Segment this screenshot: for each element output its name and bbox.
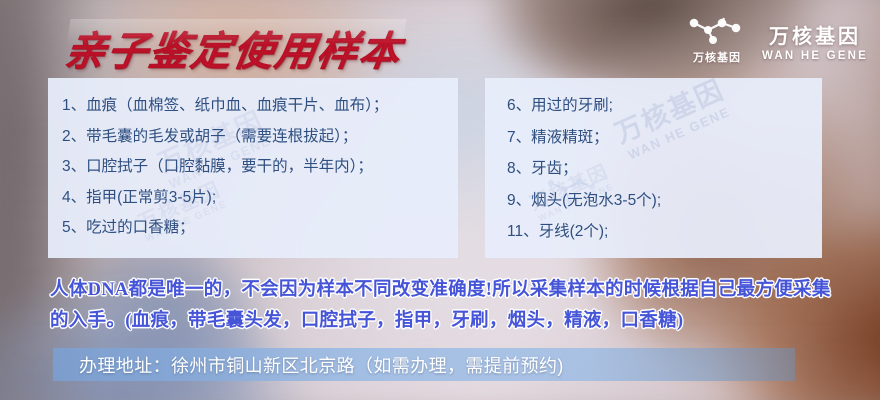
list-item: 7、精液精斑； [507, 130, 822, 146]
list-item: 6、用过的牙刷; [507, 98, 822, 114]
brand-logo: 万核基因 万核基因 WAN HE GENE [686, 16, 868, 65]
description-paragraph: 人体DNA都是唯一的，不会因为样本不同改变准确度!所以采集样本的时候根据自己最方… [50, 275, 840, 337]
logo-name-cn: 万核基因 [769, 20, 861, 49]
list-item: 1、血痕（血棉签、纸巾血、血痕干片、血布）； [62, 98, 458, 114]
list-item: 8、牙齿； [507, 161, 822, 177]
address-text: 办理地址：徐州市铜山新区北京路（如需办理，需提前预约) [53, 352, 564, 378]
list-item: 4、指甲(正常剪3-5片); [62, 190, 458, 206]
list-left: 1、血痕（血棉签、纸巾血、血痕干片、血布）； 2、带毛囊的毛发或胡子（需要连根拔… [48, 78, 458, 236]
logo-mark: 万核基因 [686, 16, 748, 65]
sample-list-panel-right: 万核基因 WAN HE GENE 万核基因 WAN HE GENE [485, 78, 822, 258]
address-banner: 办理地址：徐州市铜山新区北京路（如需办理，需提前预约) [53, 348, 795, 381]
page-title: 亲子鉴定使用样本 [61, 19, 406, 77]
dna-molecule-icon [686, 16, 748, 46]
list-item: 9、烟头(无泡水3-5个); [507, 193, 822, 209]
list-item: 2、带毛囊的毛发或胡子（需要连根拔起）； [62, 129, 458, 145]
logo-wordmark: 万核基因 WAN HE GENE [762, 20, 868, 62]
logo-mark-label: 万核基因 [693, 49, 741, 65]
logo-name-en: WAN HE GENE [762, 50, 868, 62]
sample-list-panel-left: 万核基因 WAN HE GENE 万核基因 WAN HE GENE 1、血痕（血… [48, 78, 458, 258]
list-item: 5、吃过的口香糖； [62, 220, 458, 236]
list-right: 6、用过的牙刷; 7、精液精斑； 8、牙齿； 9、烟头(无泡水3-5个); 11… [485, 78, 822, 240]
list-item: 3、口腔拭子（口腔黏膜，要干的，半年内）； [62, 159, 458, 175]
poster-canvas: 亲子鉴定使用样本 [0, 0, 880, 400]
list-item: 11、牙线(2个); [507, 224, 822, 240]
